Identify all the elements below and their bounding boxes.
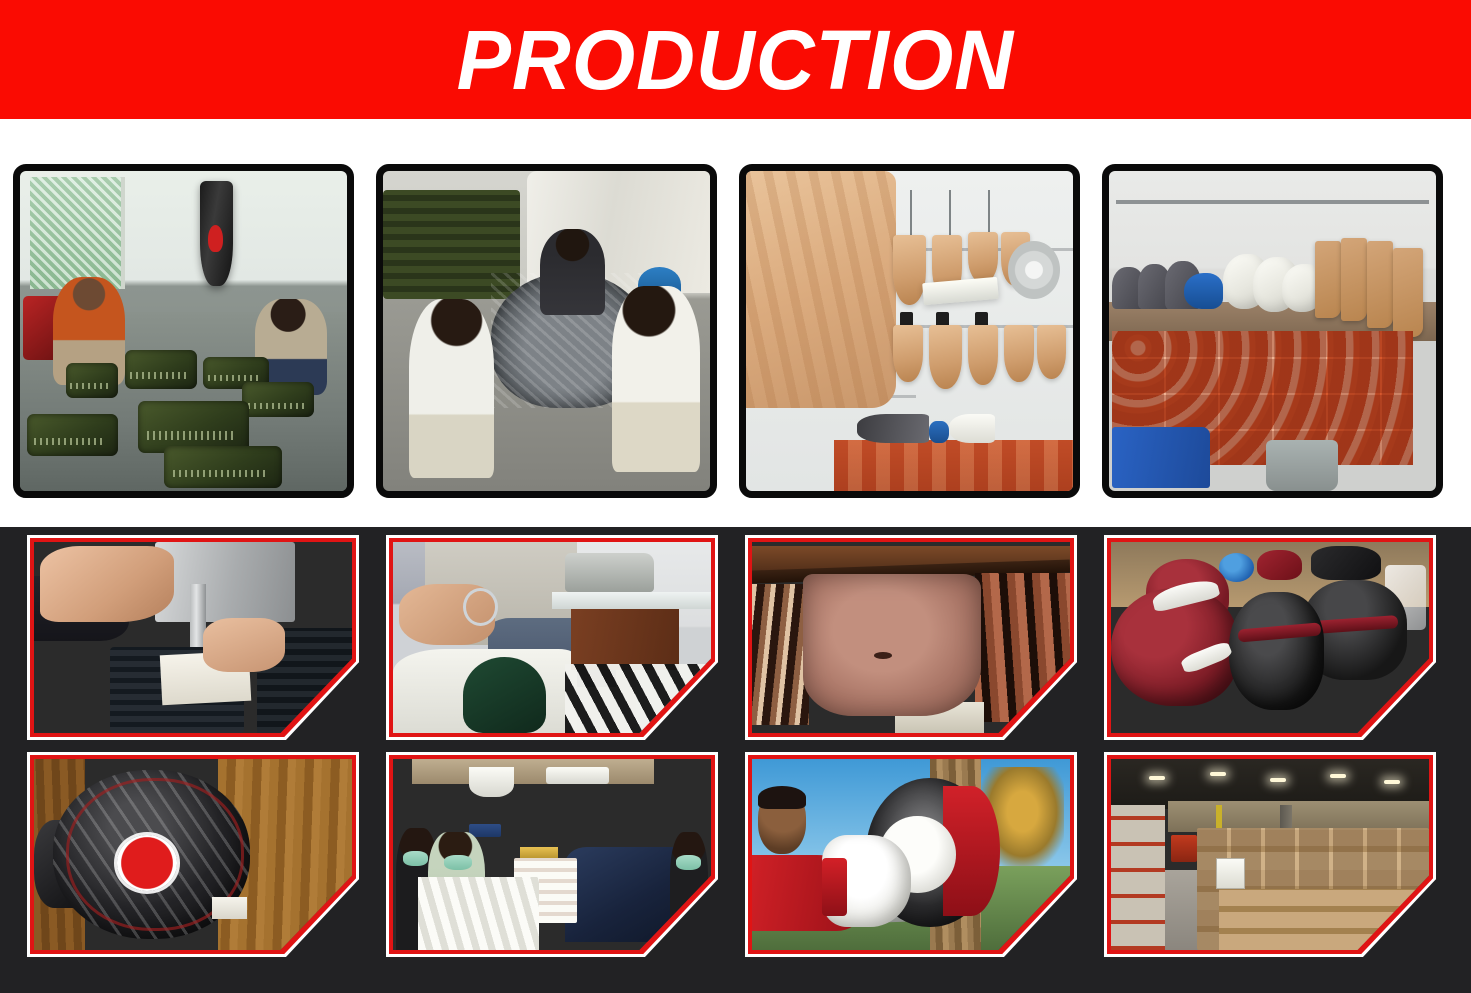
worker-black-jacket-detail	[540, 229, 605, 315]
red-mitt-detail	[1257, 550, 1302, 581]
red-frame	[30, 755, 356, 954]
blue-item-detail	[929, 421, 949, 443]
dark-glove-back-detail	[1311, 546, 1381, 580]
cardboard-pattern-detail	[1315, 241, 1341, 318]
photo-card-leather-pattern-room[interactable]	[739, 164, 1080, 498]
shelf-detail	[412, 759, 654, 784]
top-gallery	[13, 164, 1458, 498]
green-pad-detail	[66, 363, 118, 398]
quality-sticker-detail	[117, 835, 177, 890]
photo-warehouse	[1111, 759, 1429, 950]
red-frame	[1107, 538, 1433, 737]
photo-card-stitching-station[interactable]	[386, 535, 718, 740]
main-hide-detail	[803, 574, 981, 715]
black-glove-front-detail	[1229, 592, 1324, 710]
racking-detail	[1111, 805, 1165, 950]
leather-piece-detail	[968, 232, 997, 283]
navy-garment-stack-detail	[565, 847, 686, 943]
wall-fan-detail	[1008, 241, 1060, 299]
bottom-gallery-section	[0, 527, 1471, 993]
ceiling-light-detail	[1149, 776, 1165, 780]
worker-white-shirt-left-detail	[409, 299, 494, 478]
leather-piece-detail	[968, 325, 997, 386]
photo-garment-folding	[393, 759, 711, 950]
bottom-gallery	[27, 535, 1447, 985]
worker-white-shirt-right-detail	[612, 286, 700, 472]
ceiling-light-detail	[1270, 778, 1286, 782]
photo-card-product-testing[interactable]	[745, 752, 1077, 957]
photo-stitching-station	[393, 542, 711, 733]
photo-card-leather-drying[interactable]	[745, 535, 1077, 740]
shoe-lasts-detail	[857, 414, 929, 443]
blue-mitt-detail	[1184, 273, 1223, 308]
photo-sorting-components	[383, 171, 710, 491]
photo-leather-pattern-room	[746, 171, 1073, 491]
face-mask-detail	[676, 855, 701, 870]
green-pad-detail	[164, 446, 282, 488]
top-gallery-section	[0, 119, 1471, 527]
hanging-punchbag-detail	[200, 181, 233, 287]
red-frame	[1107, 755, 1433, 954]
photo-card-assembly-floor[interactable]	[13, 164, 354, 498]
production-page: PRODUCTION	[0, 0, 1471, 993]
photo-card-packing-crate[interactable]	[27, 752, 359, 957]
hide-bundle-left-detail	[752, 584, 809, 725]
photo-clicking-press	[34, 542, 352, 733]
hang-tag-detail	[212, 897, 247, 920]
green-pad-detail	[125, 350, 197, 388]
boxer-hair-detail	[758, 786, 806, 809]
photo-product-testing	[752, 759, 1070, 950]
ceiling-lamp-detail	[546, 767, 610, 784]
red-frame	[389, 538, 715, 737]
green-pad-detail	[242, 382, 314, 417]
photo-finished-gloves	[1111, 542, 1429, 733]
hide-bundle-right-detail	[975, 573, 1070, 722]
pallet-rows-front-detail	[1219, 889, 1429, 950]
cardboard-pattern-detail	[1341, 238, 1367, 321]
header-banner: PRODUCTION	[0, 0, 1471, 119]
ceiling-lamp-detail	[469, 767, 514, 798]
worker-right-detail	[670, 832, 708, 950]
photo-card-finished-gloves[interactable]	[1104, 535, 1436, 740]
wall-rail-detail	[1116, 200, 1430, 204]
green-pad-detail	[463, 657, 546, 733]
white-last-detail	[949, 414, 995, 443]
photo-card-warehouse[interactable]	[1104, 752, 1436, 957]
leather-piece-detail	[1004, 325, 1033, 383]
leather-piece-detail	[929, 325, 962, 389]
red-frame	[748, 755, 1074, 954]
red-frame	[389, 755, 715, 954]
pattern-wall-left-detail	[746, 171, 896, 408]
face-mask-detail	[444, 855, 473, 870]
page-title: PRODUCTION	[457, 18, 1014, 102]
leather-piece-detail	[1037, 325, 1066, 379]
leather-piece-detail	[893, 325, 922, 383]
blue-mat-detail	[1112, 427, 1210, 488]
press-head-detail	[155, 542, 295, 622]
photo-card-clicking-press[interactable]	[27, 535, 359, 740]
photo-packing-crate	[34, 759, 352, 950]
finished-parts-detail	[565, 664, 711, 733]
bucket-detail	[1266, 440, 1338, 491]
cardboard-pattern-detail	[1393, 248, 1422, 338]
bangle-detail	[463, 588, 498, 626]
window-detail	[30, 177, 125, 289]
sewing-machine-detail	[565, 553, 654, 591]
table-legs-detail	[571, 609, 679, 670]
bottom-gallery-row-1	[27, 535, 1447, 740]
bottom-gallery-row-2	[27, 752, 1447, 957]
forklift-detail	[1171, 835, 1196, 862]
leather-piece-detail	[893, 235, 926, 305]
ceiling-light-detail	[1384, 780, 1400, 784]
green-pad-detail	[138, 401, 249, 452]
photo-leather-drying	[752, 542, 1070, 733]
photo-card-moulding-bench[interactable]	[1102, 164, 1443, 498]
face-mask-detail	[403, 851, 428, 866]
sewing-table-detail	[552, 592, 711, 609]
operator-hand-left-detail	[40, 546, 174, 622]
ceiling-light-detail	[1330, 774, 1346, 778]
operator-hand-right-detail	[203, 618, 286, 671]
green-pad-detail	[27, 414, 119, 456]
red-frame	[748, 538, 1074, 737]
back-wall-detail	[1168, 801, 1429, 832]
cardboard-pattern-detail	[1367, 241, 1393, 327]
photo-card-sorting-components[interactable]	[376, 164, 717, 498]
red-frame	[30, 538, 356, 737]
work-table-detail	[834, 440, 1073, 491]
ceiling-light-detail	[1210, 772, 1226, 776]
folded-whites-detail	[418, 877, 539, 950]
pallet-placard-detail	[1216, 858, 1245, 889]
photo-moulding-bench	[1109, 171, 1436, 491]
glove-red-trim-detail	[822, 858, 847, 915]
photo-assembly-floor	[20, 171, 347, 491]
photo-card-garment-folding[interactable]	[386, 752, 718, 957]
